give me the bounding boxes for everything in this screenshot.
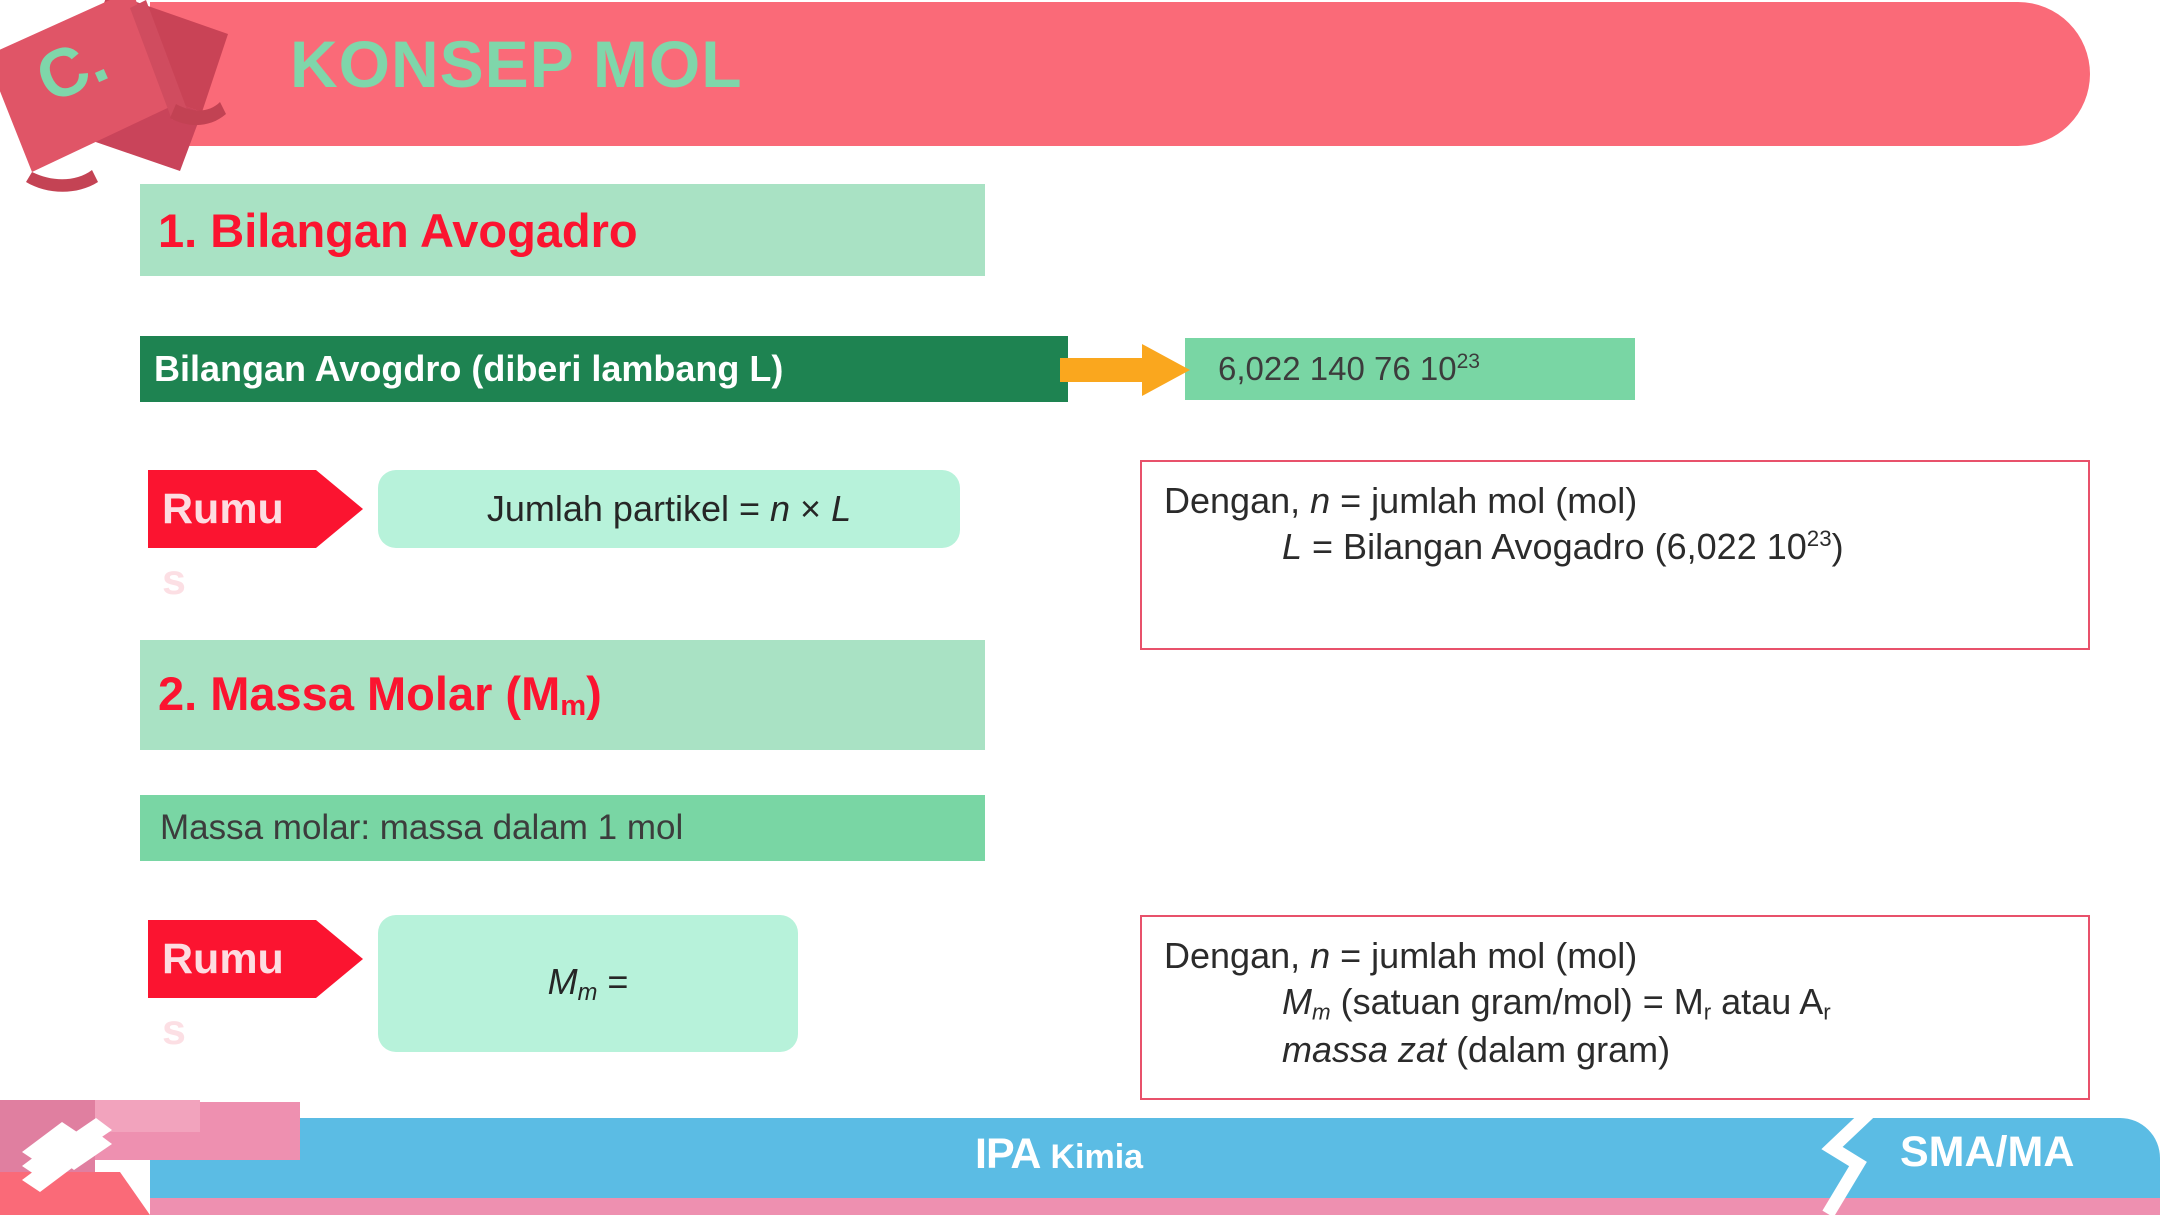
- rumus-tag-2-text: Rumu s: [162, 920, 392, 1062]
- page-title: KONSEP MOL: [290, 26, 743, 102]
- note-2-line-1-prefix: Dengan,: [1164, 935, 1310, 976]
- footer-subject-label: IPA: [975, 1130, 1041, 1178]
- formula-1-operator: ×: [790, 488, 831, 529]
- rumus-tag-1-text: Rumu s: [162, 470, 392, 612]
- rumus-tag-1-overflow: s: [162, 548, 392, 612]
- formula-2-var: M: [548, 961, 578, 1002]
- note-2-line-1-rest: = jumlah mol (mol): [1330, 935, 1637, 976]
- note-2-line-2-rest2: atau A: [1711, 981, 1823, 1022]
- formula-box-2: Mm =: [378, 915, 798, 1052]
- formula-1-var-n: n: [770, 488, 790, 529]
- formula-1-text: Jumlah partikel = n × L: [487, 488, 851, 530]
- formula-1-var-l: L: [831, 488, 851, 529]
- massa-molar-description-bar: Massa molar: massa dalam 1 mol: [140, 795, 985, 861]
- rumus-tag-2-visible: Rumu: [162, 935, 284, 983]
- formula-2-text: Mm =: [548, 961, 629, 1007]
- footer-level-label: SMA/MA: [1900, 1128, 2074, 1177]
- formula-2-sub: m: [578, 978, 598, 1005]
- section-2-heading: 2. Massa Molar (Mm): [140, 640, 985, 750]
- footer-subject: IPAKimia: [975, 1130, 1143, 1179]
- note-1-line-2-close: ): [1832, 526, 1844, 567]
- footer-topic-label: Kimia: [1041, 1138, 1144, 1176]
- note-2-line-2-var: M: [1282, 981, 1312, 1022]
- rumus-tag-2-overflow: s: [162, 998, 392, 1062]
- section-2-heading-suffix: ): [586, 667, 602, 720]
- note-1-line-1-rest: = jumlah mol (mol): [1330, 480, 1637, 521]
- section-2-heading-label: 2. Massa Molar (Mm): [140, 666, 602, 723]
- note-box-2: Dengan, n = jumlah mol (mol) Mm (satuan …: [1140, 915, 2090, 1100]
- note-2-line-2: Mm (satuan gram/mol) = Mr atau Ar: [1164, 979, 2066, 1027]
- avogadro-definition-label: Bilangan Avogdro (diberi lambang L): [140, 348, 783, 390]
- rumus-tag-1: Rumu s: [148, 470, 363, 548]
- note-2-line-1: Dengan, n = jumlah mol (mol): [1164, 933, 2066, 979]
- ribbon-banner-icon: C.: [0, 0, 280, 256]
- formula-1-prefix: Jumlah partikel =: [487, 488, 770, 529]
- note-2-line-2-sub: m: [1312, 1000, 1331, 1025]
- note-2-line-2-sub3: r: [1823, 1000, 1830, 1025]
- section-2-heading-prefix: 2. Massa Molar (M: [158, 667, 560, 720]
- avogadro-definition-bar: Bilangan Avogdro (diberi lambang L): [140, 336, 1068, 402]
- note-1-line-2-var: L: [1282, 526, 1302, 567]
- note-2-line-1-var: n: [1310, 935, 1330, 976]
- avogadro-value-box: 6,022 140 76 1023: [1185, 338, 1635, 400]
- note-box-1: Dengan, n = jumlah mol (mol) L = Bilanga…: [1140, 460, 2090, 650]
- note-2-line-2-rest: (satuan gram/mol) = M: [1331, 981, 1704, 1022]
- note-1-line-2-exp: 23: [1807, 526, 1832, 551]
- note-2-line-3-italic: massa zat: [1282, 1029, 1446, 1070]
- formula-box-1: Jumlah partikel = n × L: [378, 470, 960, 548]
- note-2-line-3: massa zat (dalam gram): [1164, 1027, 2066, 1073]
- book-stack-logo-icon: [0, 1100, 320, 1215]
- avogadro-value-exponent: 23: [1457, 350, 1480, 373]
- zigzag-divider-icon: [1810, 1108, 1900, 1218]
- rumus-tag-2: Rumu s: [148, 920, 363, 998]
- rumus-tag-1-visible: Rumu: [162, 485, 284, 533]
- section-2-heading-sub: m: [560, 691, 586, 723]
- right-arrow-icon: [1060, 344, 1190, 396]
- note-2-line-3-rest: (dalam gram): [1446, 1029, 1670, 1070]
- note-1-line-1: Dengan, n = jumlah mol (mol): [1164, 478, 2066, 524]
- avogadro-value-label: 6,022 140 76 1023: [1185, 350, 1480, 388]
- note-1-line-1-prefix: Dengan,: [1164, 480, 1310, 521]
- note-1-line-2-rest: = Bilangan Avogadro (6,022 10: [1302, 526, 1807, 567]
- note-1-line-2: L = Bilangan Avogadro (6,022 1023): [1164, 524, 2066, 570]
- note-1-line-1-var: n: [1310, 480, 1330, 521]
- massa-molar-description-label: Massa molar: massa dalam 1 mol: [140, 808, 683, 848]
- avogadro-value-mantissa: 6,022 140 76 10: [1218, 350, 1457, 387]
- formula-2-rest: =: [597, 961, 628, 1002]
